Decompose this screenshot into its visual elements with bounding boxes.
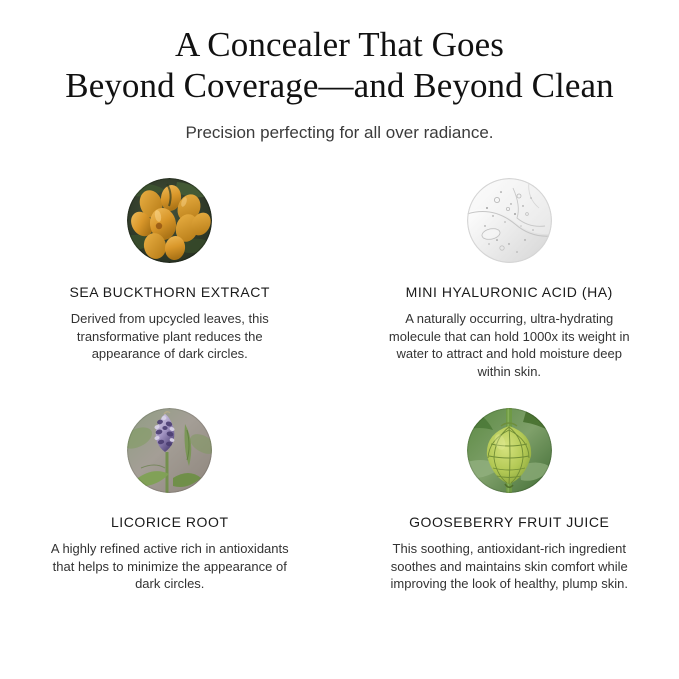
ingredient-description: This soothing, antioxidant-rich ingredie… <box>381 540 637 593</box>
hyaluronic-acid-gel-texture-photo <box>467 178 552 263</box>
ingredient-card-hyaluronic-acid: MINI HYALURONIC ACID (HA) A naturally oc… <box>340 178 679 380</box>
ingredient-title: MINI HYALURONIC ACID (HA) <box>406 283 613 301</box>
ingredient-card-gooseberry: GOOSEBERRY FRUIT JUICE This soothing, an… <box>340 408 679 593</box>
ingredient-card-sea-buckthorn: SEA BUCKTHORN EXTRACT Derived from upcyc… <box>0 178 340 380</box>
sea-buckthorn-berries-photo <box>127 178 212 263</box>
licorice-root-flower-photo <box>127 408 212 493</box>
page-header: A Concealer That Goes Beyond Coverage—an… <box>0 0 679 144</box>
ingredient-title: SEA BUCKTHORN EXTRACT <box>69 283 270 301</box>
page-subtitle: Precision perfecting for all over radian… <box>0 122 679 144</box>
ingredient-benefits-page: A Concealer That Goes Beyond Coverage—an… <box>0 0 679 679</box>
page-title: A Concealer That Goes Beyond Coverage—an… <box>25 24 655 106</box>
page-title-line-2: Beyond Coverage—and Beyond Clean <box>25 65 655 106</box>
ingredient-card-licorice-root: LICORICE ROOT A highly refined active ri… <box>0 408 340 593</box>
ingredient-description: A highly refined active rich in antioxid… <box>42 540 298 593</box>
ingredients-grid: SEA BUCKTHORN EXTRACT Derived from upcyc… <box>0 178 679 593</box>
ingredient-title: LICORICE ROOT <box>111 513 229 531</box>
ingredient-description: Derived from upcycled leaves, this trans… <box>44 310 296 363</box>
page-title-line-1: A Concealer That Goes <box>25 24 655 65</box>
gooseberry-husk-photo <box>467 408 552 493</box>
ingredient-description: A naturally occurring, ultra-hydrating m… <box>383 310 635 380</box>
ingredient-title: GOOSEBERRY FRUIT JUICE <box>409 513 609 531</box>
